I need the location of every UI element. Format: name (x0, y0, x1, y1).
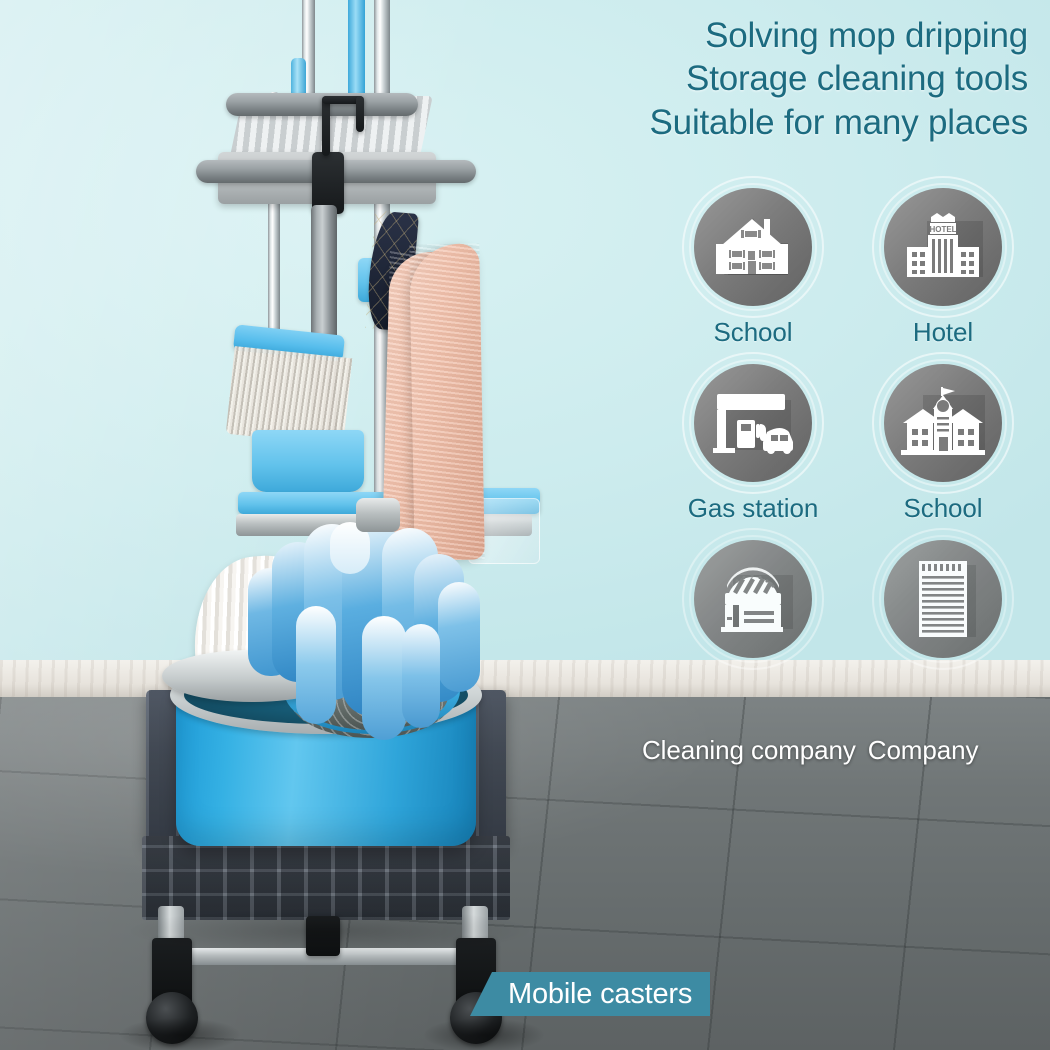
use-case-cell-cleaning-company (658, 534, 848, 664)
handle-hook-wire (322, 96, 330, 156)
use-case-row-3-labels: Cleaning company Company (658, 730, 1050, 766)
notepad-icon (884, 540, 1002, 658)
hotel-building-icon: HOTEL (884, 188, 1002, 306)
use-case-label-school-building: School (904, 493, 983, 524)
use-case-label-gas-station: Gas station (688, 493, 818, 524)
use-case-icon-grid: School (658, 182, 1038, 664)
use-case-cell-school-house: School (658, 182, 848, 348)
handle-hook-wire-right (356, 96, 364, 132)
product-banner-stage: Solving mop dripping Storage cleaning to… (0, 0, 1050, 1050)
house-school-icon (694, 188, 812, 306)
use-case-label-cleaning-company: Cleaning company (642, 735, 856, 766)
mobile-casters-label: Mobile casters (508, 978, 692, 1011)
use-case-row-3 (658, 534, 1038, 664)
use-case-cell-school-building: School (848, 358, 1038, 524)
product-photo (0, 0, 620, 1050)
use-case-cell-gas-station: Gas station (658, 358, 848, 524)
cart-ground-shadow (130, 908, 530, 954)
caster-shadow-right (424, 1018, 544, 1050)
headline-line-1: Solving mop dripping (528, 14, 1028, 57)
use-case-label-school-house: School (714, 317, 793, 348)
caster-shadow-left (120, 1018, 240, 1050)
icon-circle-wrap-gas-station (688, 358, 818, 488)
school-building-icon (884, 364, 1002, 482)
icon-circle-wrap-school-building (878, 358, 1008, 488)
use-case-cell-company (848, 534, 1038, 664)
use-case-label-company: Company (868, 735, 979, 766)
icon-circle-wrap-cleaning-company (688, 534, 818, 664)
use-case-cell-hotel: HOTEL Hotel (848, 182, 1038, 348)
mop-head-ferrule (356, 498, 400, 532)
broom-handle-blue (348, 0, 365, 108)
storefront-icon (694, 540, 812, 658)
icon-circle-wrap-school-house (688, 182, 818, 312)
blue-dustpan (252, 430, 364, 492)
use-case-row-2: Gas station (658, 358, 1038, 524)
hotel-sign-text: HOTEL (929, 225, 956, 234)
gas-station-icon (694, 364, 812, 482)
headline-line-2: Storage cleaning tools (528, 57, 1028, 100)
headline-line-3: Suitable for many places (528, 101, 1028, 144)
chenille-spin-mop-head (242, 520, 472, 740)
use-case-label-hotel: Hotel (913, 317, 973, 348)
icon-circle-wrap-hotel: HOTEL (878, 182, 1008, 312)
icon-circle-wrap-company (878, 534, 1008, 664)
use-case-row-1: School (658, 182, 1038, 348)
mobile-casters-callout: Mobile casters (470, 972, 710, 1016)
hanging-towel-front (409, 243, 485, 560)
headline-block: Solving mop dripping Storage cleaning to… (528, 14, 1028, 144)
towel-texture-front (409, 243, 485, 560)
